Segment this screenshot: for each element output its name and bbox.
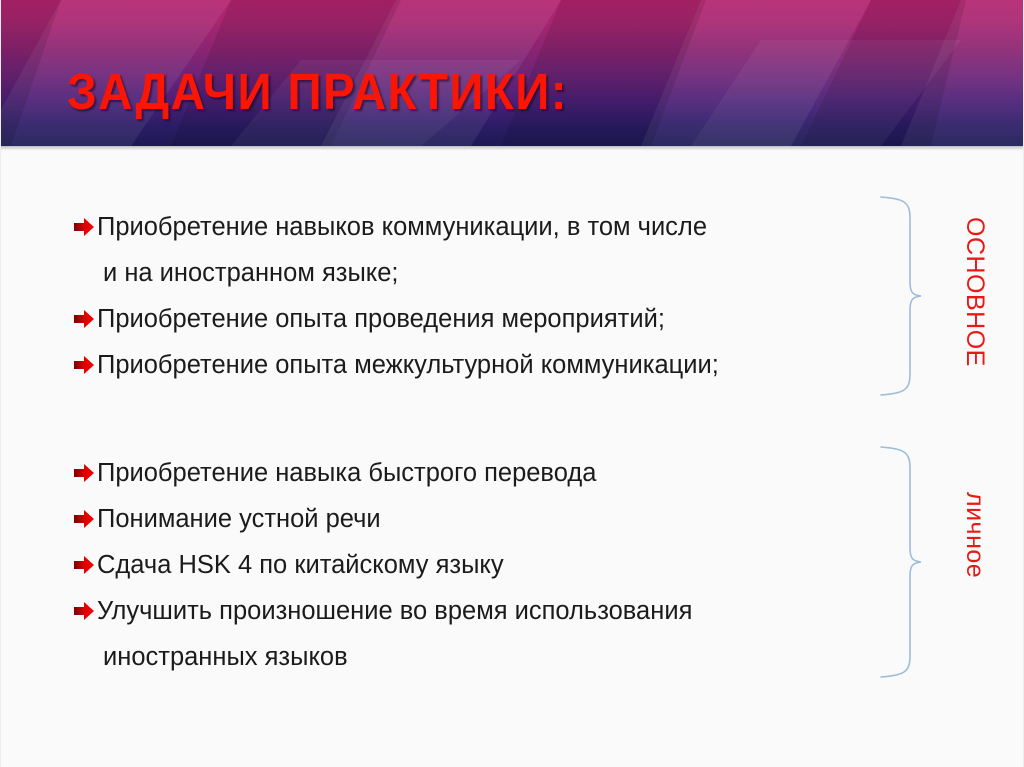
group-label-primary-text: ОСНОВНОЕ	[960, 217, 989, 367]
red-arrow-bullet-icon	[73, 496, 97, 542]
group-label-personal: личное	[989, 492, 1024, 521]
brace-personal	[879, 444, 923, 680]
list-item-label: Приобретение опыта проведения мероприяти…	[97, 296, 665, 342]
page-title: ЗАДАЧИ ПРАКТИКИ:	[67, 63, 568, 121]
red-arrow-bullet-icon	[73, 450, 97, 496]
list-item: Приобретение опыта межкультурной коммуни…	[73, 342, 873, 388]
list-item-label: Приобретение навыка быстрого перевода	[97, 450, 596, 496]
list-item-label: и на иностранном языке;	[103, 250, 398, 296]
brace-primary	[879, 194, 923, 398]
list-item: Приобретение навыков коммуникации, в том…	[73, 204, 873, 250]
slide-body: Приобретение навыков коммуникации, в том…	[1, 150, 1024, 767]
list-item: Улучшить произношение во время использов…	[73, 588, 873, 634]
list-item-continuation: и на иностранном языке;	[73, 250, 873, 296]
bullet-group-primary: Приобретение навыков коммуникации, в том…	[73, 204, 873, 388]
list-item-continuation: иностранных языков	[73, 634, 873, 680]
red-arrow-bullet-icon	[73, 342, 97, 388]
list-item-label: Приобретение опыта межкультурной коммуни…	[97, 342, 719, 388]
red-arrow-bullet-icon	[73, 296, 97, 342]
list-item: Понимание устной речи	[73, 496, 873, 542]
list-item-label: иностранных языков	[103, 634, 348, 680]
red-arrow-bullet-icon	[73, 542, 97, 588]
group-label-personal-text: личное	[960, 492, 989, 578]
list-item-label: Сдача HSK 4 по китайскому языку	[97, 542, 504, 588]
list-item: Приобретение навыка быстрого перевода	[73, 450, 873, 496]
bullet-group-personal: Приобретение навыка быстрого перевода По…	[73, 450, 873, 680]
slide: ЗАДАЧИ ПРАКТИКИ:	[0, 0, 1024, 767]
list-item-label: Улучшить произношение во время использов…	[97, 588, 692, 634]
red-arrow-bullet-icon	[73, 588, 97, 634]
list-item: Приобретение опыта проведения мероприяти…	[73, 296, 873, 342]
list-item-label: Приобретение навыков коммуникации, в том…	[97, 204, 707, 250]
list-item: Сдача HSK 4 по китайскому языку	[73, 542, 873, 588]
group-label-primary: ОСНОВНОЕ	[989, 217, 1024, 246]
list-item-label: Понимание устной речи	[97, 496, 381, 542]
slide-header-band: ЗАДАЧИ ПРАКТИКИ:	[1, 0, 1024, 146]
red-arrow-bullet-icon	[73, 204, 97, 250]
